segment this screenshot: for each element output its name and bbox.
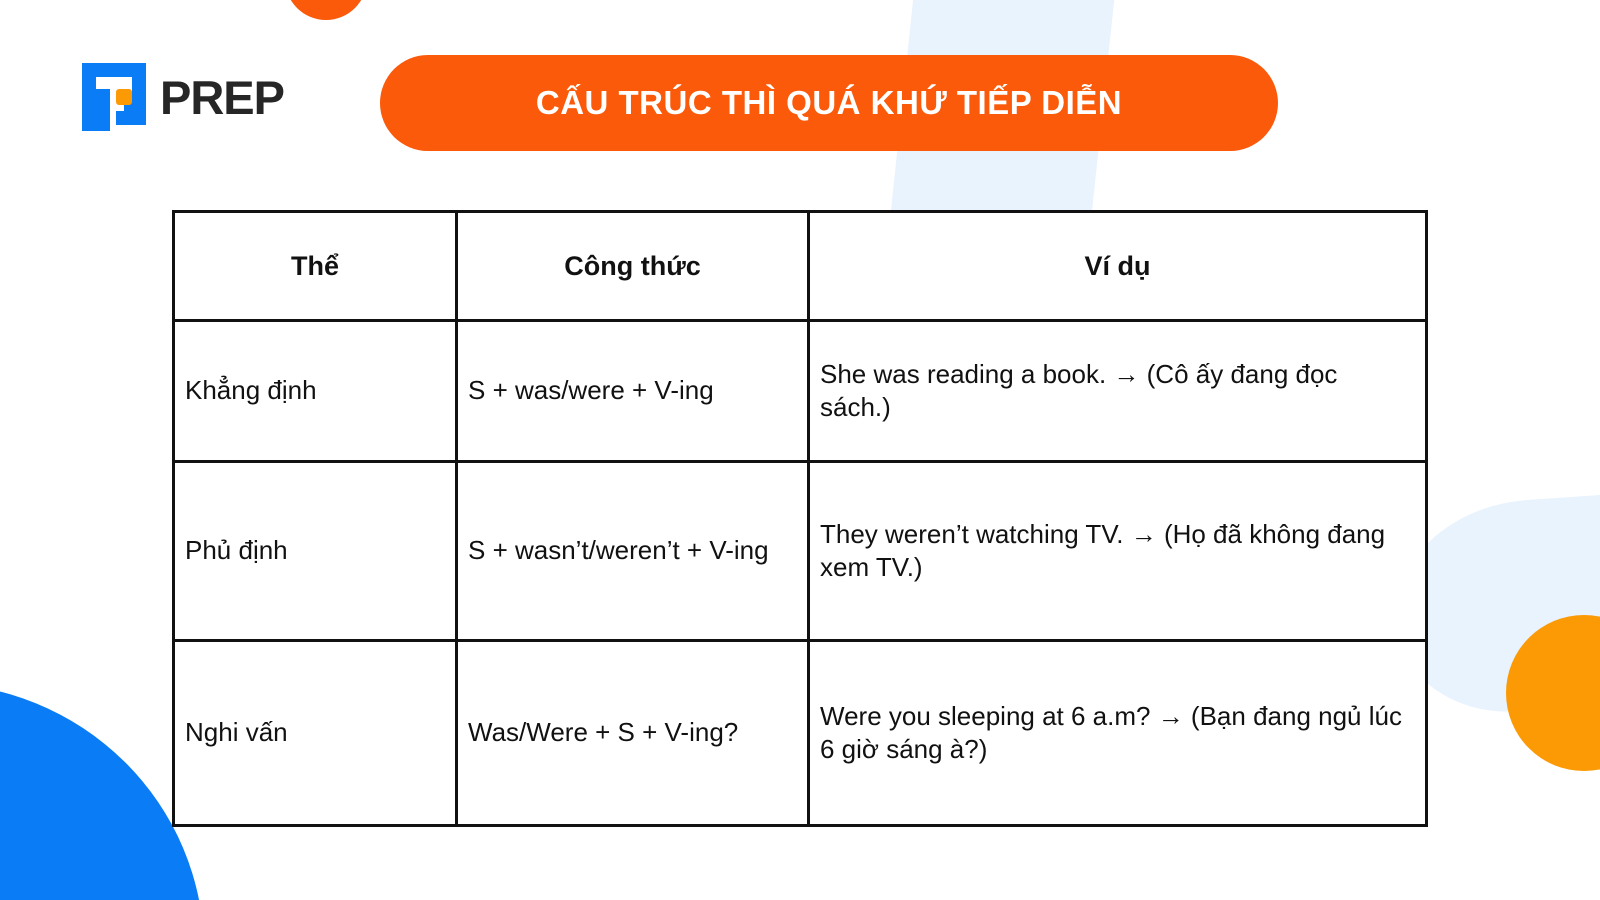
- infographic-canvas: PREP CẤU TRÚC THÌ QUÁ KHỨ TIẾP DIỄN Thể …: [0, 0, 1600, 900]
- cell-form: Khẳng định: [174, 321, 457, 462]
- cell-example: She was reading a book. → (Cô ấy đang đọ…: [809, 321, 1427, 462]
- prep-square-logo-icon: [78, 59, 150, 135]
- cell-form: Nghi vấn: [174, 641, 457, 826]
- orange-circle-decoration: [285, 0, 367, 20]
- table-row: Phủ định S + wasn’t/weren’t + V-ing They…: [174, 462, 1427, 641]
- title-banner: CẤU TRÚC THÌ QUÁ KHỨ TIẾP DIỄN: [380, 55, 1278, 151]
- amber-circle-decoration: [1506, 615, 1600, 771]
- page-title: CẤU TRÚC THÌ QUÁ KHỨ TIẾP DIỄN: [536, 84, 1122, 122]
- cell-form: Phủ định: [174, 462, 457, 641]
- header: PREP CẤU TRÚC THÌ QUÁ KHỨ TIẾP DIỄN: [0, 55, 1600, 151]
- brand-logo: PREP: [78, 59, 284, 135]
- cell-example: Were you sleeping at 6 a.m? → (Bạn đang …: [809, 641, 1427, 826]
- past-continuous-structure-table: Thể Công thức Ví dụ Khẳng định S + was/w…: [172, 210, 1428, 827]
- table-header-row: Thể Công thức Ví dụ: [174, 212, 1427, 321]
- brand-name: PREP: [160, 74, 284, 121]
- table-row: Khẳng định S + was/were + V-ing She was …: [174, 321, 1427, 462]
- column-header-form: Thể: [174, 212, 457, 321]
- cell-formula: S + was/were + V-ing: [457, 321, 809, 462]
- cell-formula: S + wasn’t/weren’t + V-ing: [457, 462, 809, 641]
- column-header-formula: Công thức: [457, 212, 809, 321]
- cell-formula: Was/Were + S + V-ing?: [457, 641, 809, 826]
- table-row: Nghi vấn Was/Were + S + V-ing? Were you …: [174, 641, 1427, 826]
- column-header-example: Ví dụ: [809, 212, 1427, 321]
- cell-example: They weren’t watching TV. → (Họ đã không…: [809, 462, 1427, 641]
